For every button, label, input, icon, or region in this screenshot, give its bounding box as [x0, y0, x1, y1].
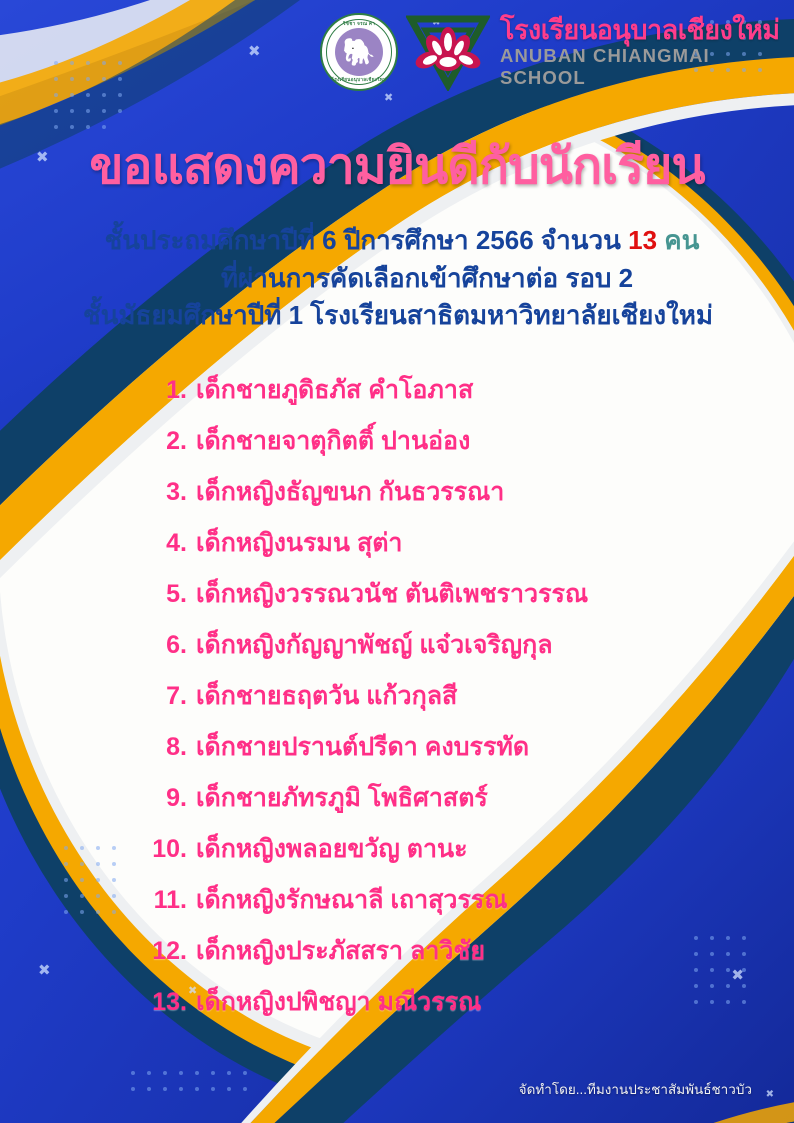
poster-canvas: ✖ ✖ ✖ ✖ ✖ ✖ ✖ ✖ วิชชา จรณ ศา 🐘 โรงเรียนอ… — [0, 0, 794, 1123]
list-item-index: 13. — [150, 990, 196, 1015]
list-item-name: เด็กหญิงนรมน สุต่า — [196, 531, 402, 556]
lotus-triangle-logo-icon — [406, 13, 490, 91]
list-item-name: เด็กชายปรานต์ปรีดา คงบรรทัด — [196, 735, 529, 760]
subtitle-line-1: ชั้นประถมศึกษาปีที่ 6 ปีการศึกษา 2566 จำ… — [0, 222, 794, 260]
list-item: 8.เด็กชายปรานต์ปรีดา คงบรรทัด — [150, 735, 710, 786]
list-item: 12.เด็กหญิงประภัสสรา ลาวิชัย — [150, 939, 710, 990]
list-item-index: 1. — [150, 378, 196, 403]
list-item-name: เด็กหญิงรักษณาลี เถาสุวรรณ — [196, 888, 508, 913]
list-item-index: 5. — [150, 582, 196, 607]
seal-disc: 🐘 — [335, 28, 383, 76]
school-name-thai: โรงเรียนอนุบาลเชียงใหม่ — [500, 16, 794, 44]
subtitle-block: ชั้นประถมศึกษาปีที่ 6 ปีการศึกษา 2566 จำ… — [0, 222, 794, 335]
list-item: 9.เด็กชายภัทรภูมิ โพธิศาสตร์ — [150, 786, 710, 837]
list-item: 6.เด็กหญิงกัญญาพัชญ์ แจ๋วเจริญกุล — [150, 633, 710, 684]
school-name-block: โรงเรียนอนุบาลเชียงใหม่ ANUBAN CHIANGMAI… — [500, 16, 794, 88]
list-item-index: 10. — [150, 837, 196, 862]
school-name-english: ANUBAN CHIANGMAI SCHOOL — [500, 45, 794, 88]
list-item-name: เด็กหญิงวรรณวนัช ตันติเพชราวรรณ — [196, 582, 588, 607]
list-item-name: เด็กชายธฤตวัน แก้วกุลสี — [196, 684, 457, 709]
list-item: 10.เด็กหญิงพลอยขวัญ ตานะ — [150, 837, 710, 888]
list-item-index: 6. — [150, 633, 196, 658]
list-item: 5.เด็กหญิงวรรณวนัช ตันติเพชราวรรณ — [150, 582, 710, 633]
list-item-name: เด็กหญิงธัญขนก กันธวรรณา — [196, 480, 504, 505]
list-item: 13.เด็กหญิงปพิชญา มณีวรรณ — [150, 990, 710, 1041]
list-item-name: เด็กชายจาตุกิตติ์ ปานอ่อง — [196, 429, 470, 454]
page-title: ขอแสดงความยินดีกับนักเรียน — [0, 140, 794, 193]
student-list: 1.เด็กชายภูดิธภัส คำโอภาส2.เด็กชายจาตุกิ… — [0, 378, 794, 1041]
list-item-index: 2. — [150, 429, 196, 454]
subtitle-line-2: ที่ผ่านการคัดเลือกเข้าศึกษาต่อ รอบ 2 — [0, 260, 794, 298]
list-item-name: เด็กหญิงพลอยขวัญ ตานะ — [196, 837, 468, 862]
list-item-index: 4. — [150, 531, 196, 556]
sparkle-icon: ✖ — [766, 1090, 774, 1100]
list-item-index: 7. — [150, 684, 196, 709]
list-item: 4.เด็กหญิงนรมน สุต่า — [150, 531, 710, 582]
student-count-badge: 13 — [628, 225, 657, 255]
list-item: 1.เด็กชายภูดิธภัส คำโอภาส — [150, 378, 710, 429]
seal-bottom-text: โรงเรียนอนุบาลเชียงใหม่ — [322, 77, 396, 84]
list-item: 2.เด็กชายจาตุกิตติ์ ปานอ่อง — [150, 429, 710, 480]
list-item-name: เด็กหญิงประภัสสรา ลาวิชัย — [196, 939, 485, 964]
subtitle-line-1-suffix: คน — [657, 225, 699, 255]
credit-footer: จัดทำโดย...ทีมงานประชาสัมพันธ์ชาวบัว — [519, 1078, 752, 1100]
list-item-name: เด็กชายภัทรภูมิ โพธิศาสตร์ — [196, 786, 488, 811]
subtitle-line-1-prefix: ชั้นประถมศึกษาปีที่ 6 ปีการศึกษา 2566 จำ… — [105, 225, 629, 255]
list-item-index: 8. — [150, 735, 196, 760]
elephant-icon: 🐘 — [342, 39, 376, 66]
poster-header: วิชชา จรณ ศา 🐘 โรงเรียนอนุบาลเชียงใหม่ — [0, 0, 794, 104]
dot-grid-bottom-left — [125, 1065, 255, 1097]
seal-top-text: วิชชา จรณ ศา — [322, 21, 396, 28]
list-item-name: เด็กหญิงปพิชญา มณีวรรณ — [196, 990, 481, 1015]
list-item-index: 3. — [150, 480, 196, 505]
list-item-name: เด็กชายภูดิธภัส คำโอภาส — [196, 378, 473, 403]
list-item: 11.เด็กหญิงรักษณาลี เถาสุวรรณ — [150, 888, 710, 939]
list-item: 3.เด็กหญิงธัญขนก กันธวรรณา — [150, 480, 710, 531]
list-item-index: 12. — [150, 939, 196, 964]
list-item-index: 11. — [150, 888, 196, 913]
school-seal-icon: วิชชา จรณ ศา 🐘 โรงเรียนอนุบาลเชียงใหม่ — [320, 13, 398, 91]
list-item: 7.เด็กชายธฤตวัน แก้วกุลสี — [150, 684, 710, 735]
list-item-name: เด็กหญิงกัญญาพัชญ์ แจ๋วเจริญกุล — [196, 633, 553, 658]
list-item-index: 9. — [150, 786, 196, 811]
subtitle-line-3: ชั้นมัธยมศึกษาปีที่ 1 โรงเรียนสาธิตมหาวิ… — [0, 297, 794, 335]
